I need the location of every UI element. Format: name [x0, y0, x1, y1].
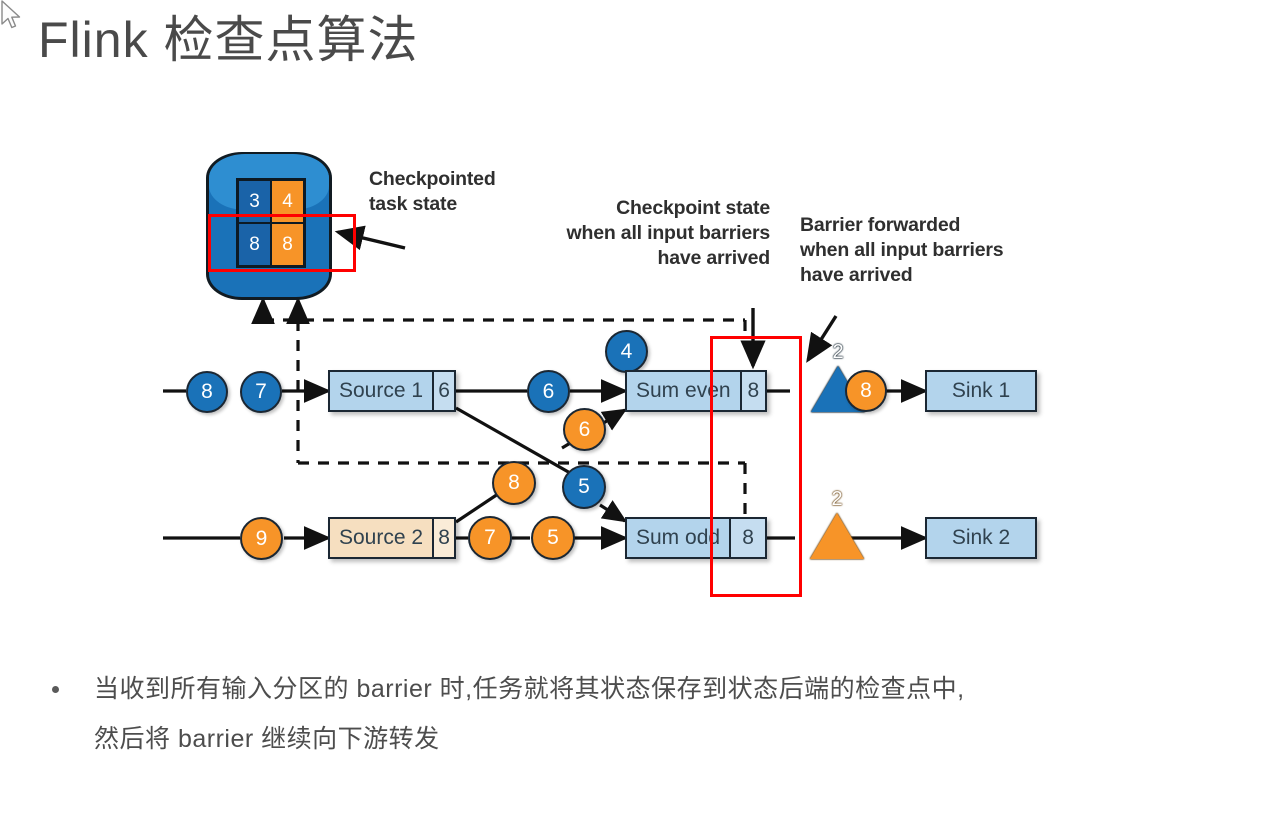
- operator-name: Source 1: [330, 372, 432, 410]
- annotation-line: have arrived: [516, 246, 770, 271]
- record-circle-top-out: 8: [845, 370, 887, 412]
- highlight-rect-operator-states: [710, 336, 802, 597]
- operator-source-1[interactable]: Source 1 6: [328, 370, 456, 412]
- record-circle-top-in-2: 7: [240, 371, 282, 413]
- slide-canvas: Flink 检查点算法: [0, 0, 1263, 821]
- annotation-line: have arrived: [800, 263, 1050, 288]
- bullet-line-1: 当收到所有输入分区的 barrier 时,任务就将其状态保存到状态后端的检查点中…: [94, 664, 1252, 714]
- mouse-cursor: [0, 0, 24, 32]
- annotation-line: Barrier forwarded: [800, 213, 1050, 238]
- operator-name: Sink 1: [927, 372, 1035, 410]
- operator-source-2[interactable]: Source 2 8: [328, 517, 456, 559]
- bullet-block: 当收到所有输入分区的 barrier 时,任务就将其状态保存到状态后端的检查点中…: [52, 664, 1252, 764]
- annotation-checkpoint-state: Checkpoint state when all input barriers…: [516, 196, 770, 271]
- annotation-checkpointed-task-state: Checkpointed task state: [369, 167, 496, 217]
- barrier-triangle-bottom: 2: [810, 513, 864, 559]
- record-circle-bottom-mid-7: 7: [468, 516, 512, 560]
- barrier-label: 2: [830, 488, 844, 511]
- annotation-line: Checkpoint state: [516, 196, 770, 221]
- annotation-barrier-forwarded: Barrier forwarded when all input barrier…: [800, 213, 1050, 288]
- record-circle-shuffle-5: 5: [562, 465, 606, 509]
- record-circle-bottom-in-1: 9: [240, 517, 283, 560]
- record-circle-top-mid-6: 6: [527, 370, 570, 413]
- bullet-dot-icon: [52, 686, 59, 693]
- record-circle-bottom-mid-5: 5: [531, 516, 575, 560]
- annotation-line: task state: [369, 192, 496, 217]
- operator-sink-1[interactable]: Sink 1: [925, 370, 1037, 412]
- highlight-rect-state-row: [208, 214, 356, 272]
- flink-checkpoint-diagram: 3 4 8 8 Checkpointed task state Checkpoi…: [0, 0, 1263, 640]
- annotation-line: when all input barriers: [516, 221, 770, 246]
- barrier-label: 2: [831, 341, 845, 364]
- bullet-line-2: 然后将 barrier 继续向下游转发: [94, 714, 1252, 764]
- annotation-line: when all input barriers: [800, 238, 1050, 263]
- operator-state-cell: 8: [432, 519, 454, 557]
- record-circle-top-in-1: 8: [186, 371, 228, 413]
- operator-name: Source 2: [330, 519, 432, 557]
- record-circle-shuffle-8: 8: [492, 461, 536, 505]
- record-circle-top-mid-6-orange: 6: [563, 408, 606, 451]
- operator-name: Sink 2: [927, 519, 1035, 557]
- operator-sink-2[interactable]: Sink 2: [925, 517, 1037, 559]
- annotation-line: Checkpointed: [369, 167, 496, 192]
- bullet-text: 当收到所有输入分区的 barrier 时,任务就将其状态保存到状态后端的检查点中…: [94, 664, 1252, 764]
- operator-state-cell: 6: [432, 372, 454, 410]
- record-circle-top-mid-4: 4: [605, 330, 648, 373]
